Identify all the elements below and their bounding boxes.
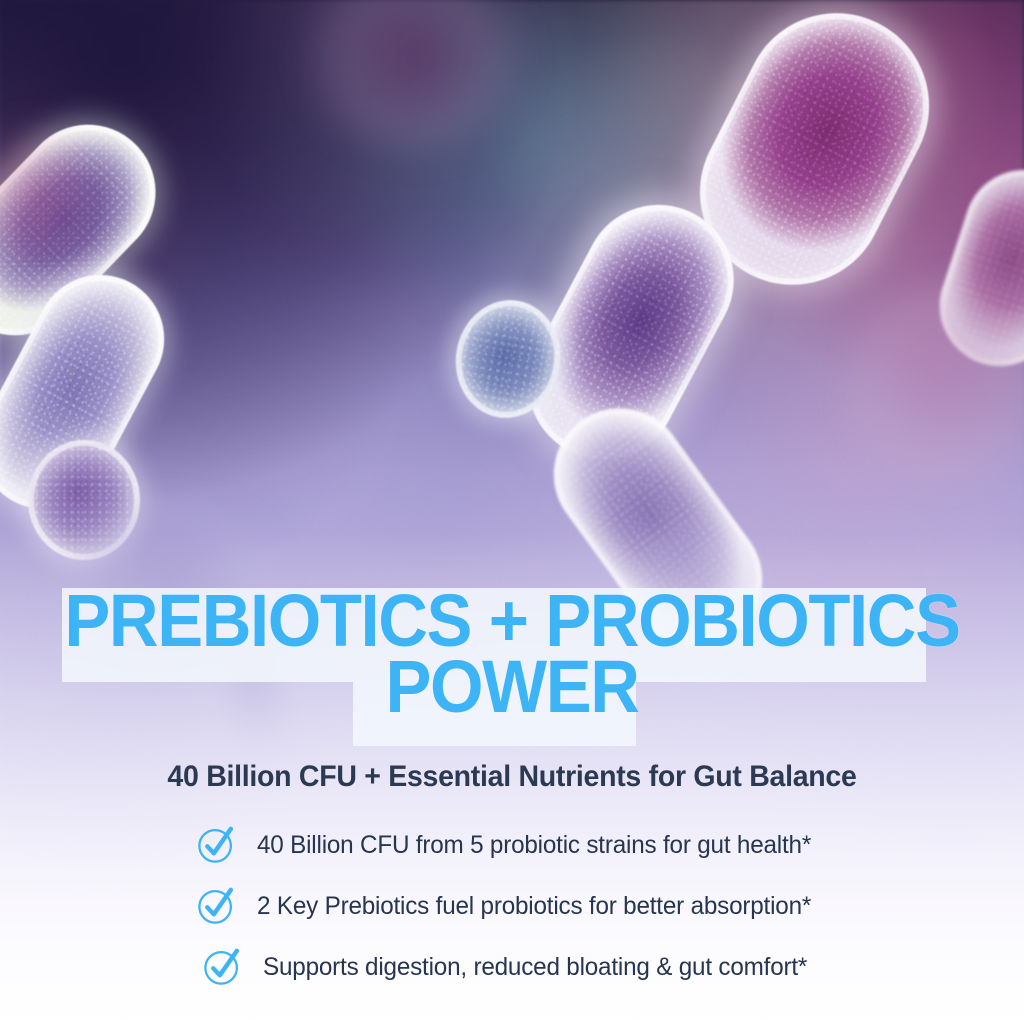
check-circle-icon [201,946,243,988]
bacterium-blur-far-right [848,286,1024,486]
bacterium-blur-top-left [0,130,110,270]
headline-block: PREBIOTICS + PROBIOTICS POWER [0,588,1024,746]
subtitle: 40 Billion CFU + Essential Nutrients for… [26,760,999,794]
check-circle-icon [195,824,237,866]
bacterium-rod-center-violet [502,178,760,485]
bacterium-coccus-center [447,292,570,426]
bacterium-rod-magenta-top-right [668,0,961,317]
list-item-label: 40 Billion CFU from 5 probiotic strains … [257,831,811,860]
promo-poster: PREBIOTICS + PROBIOTICS POWER 40 Billion… [0,0,1024,1024]
list-item-label: 2 Key Prebiotics fuel probiotics for bet… [257,892,811,921]
list-item: Supports digestion, reduced bloating & g… [201,946,824,988]
bacterium-rod-pale-left [0,252,187,531]
check-circle-icon [195,885,237,927]
bacterium-blur-top-center [300,0,530,154]
list-item: 40 Billion CFU from 5 probiotic strains … [195,824,828,866]
list-item-label: Supports digestion, reduced bloating & g… [263,953,807,982]
bacterium-rod-edge-right [924,154,1024,381]
headline-band-lower [353,682,636,746]
bacterium-rod-blue-upper-left [0,97,183,363]
headline-band-row-2 [0,682,1024,746]
list-item: 2 Key Prebiotics fuel probiotics for bet… [195,885,828,927]
headline-band-row-1 [0,588,1024,682]
bacterium-coccus-left-lower [28,440,140,560]
benefits-list: 40 Billion CFU from 5 probiotic strains … [0,824,1024,988]
headline-band-upper [62,588,926,682]
